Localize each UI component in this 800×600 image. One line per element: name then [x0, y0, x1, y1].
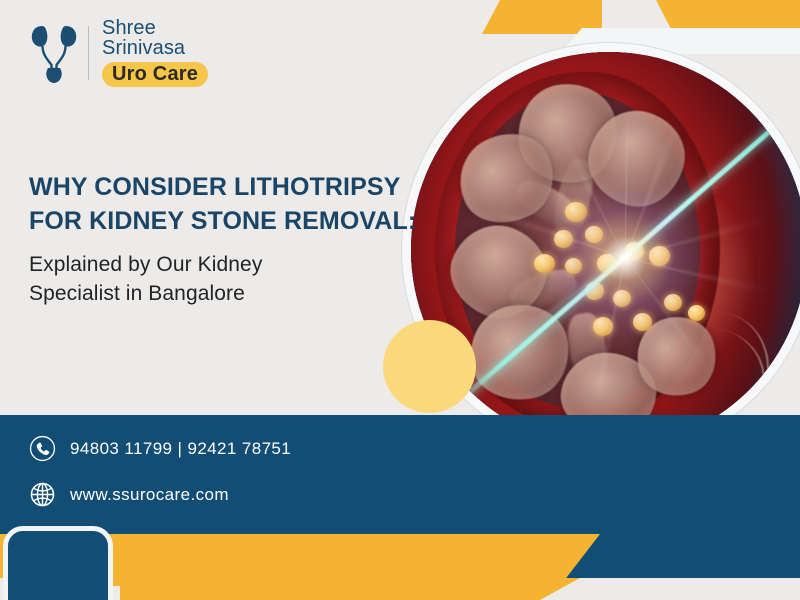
page-title-line-2: FOR KIDNEY STONE REMOVAL:: [29, 207, 416, 235]
laser-impact-flare: [535, 168, 715, 348]
bottom-yellow-tail-decor: [120, 578, 580, 600]
contact-website-row[interactable]: www.ssurocare.com: [29, 481, 291, 508]
bottom-right-blue-strip: [560, 534, 800, 578]
contact-details: 94803 11799 | 92421 78751 www.ssurocare.…: [29, 435, 291, 527]
globe-icon: [29, 481, 56, 508]
logo-divider: [88, 26, 89, 80]
phone-number: 94803 11799 | 92421 78751: [70, 439, 291, 459]
yellow-circle-decor: [383, 320, 476, 413]
brand-logo[interactable]: Shree Srinivasa Uro Care: [28, 18, 208, 87]
page-title-line-1: WHY CONSIDER LITHOTRIPSY: [29, 173, 400, 201]
logo-name-line-1: Shree: [102, 18, 208, 38]
website-url: www.ssurocare.com: [70, 485, 229, 505]
headline-block: WHY CONSIDER LITHOTRIPSY FOR KIDNEY STON…: [29, 170, 419, 309]
page-subtitle: Explained by Our Kidney Specialist in Ba…: [29, 251, 419, 309]
logo-name-pill: Uro Care: [102, 62, 208, 87]
contact-phone-row[interactable]: 94803 11799 | 92421 78751: [29, 435, 291, 462]
page-subtitle-line-2: Specialist in Bangalore: [29, 282, 245, 305]
kidney-urinary-tract-icon: [28, 22, 80, 84]
page-subtitle-line-1: Explained by Our Kidney: [29, 253, 262, 276]
promotional-banner: Shree Srinivasa Uro Care WHY CONSIDER LI…: [0, 0, 800, 600]
logo-name-line-2: Srinivasa: [102, 38, 208, 58]
phone-icon: [29, 435, 56, 462]
page-title: WHY CONSIDER LITHOTRIPSY FOR KIDNEY STON…: [29, 170, 419, 238]
bottom-left-rounded-square-decor: [3, 526, 113, 600]
logo-wordmark: Shree Srinivasa Uro Care: [102, 18, 208, 87]
